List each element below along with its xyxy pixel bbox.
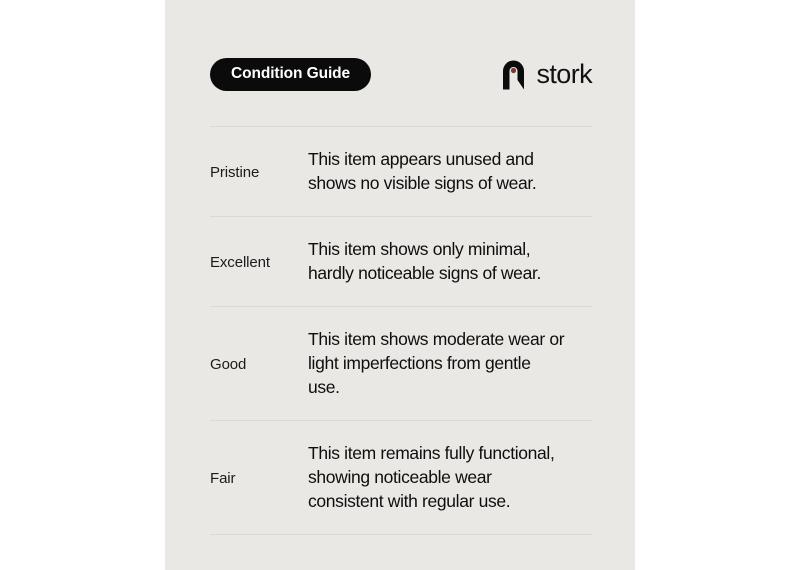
brand-lockup: stork bbox=[500, 59, 592, 90]
page-root: Condition Guide stork Pristine This item… bbox=[0, 0, 800, 570]
condition-guide-table: Pristine This item appears unused and sh… bbox=[210, 126, 592, 535]
condition-guide-badge: Condition Guide bbox=[210, 58, 371, 91]
condition-description: This item shows moderate wear or light i… bbox=[308, 328, 592, 400]
condition-label: Pristine bbox=[210, 162, 308, 181]
table-row: Pristine This item appears unused and sh… bbox=[210, 127, 592, 216]
row-divider bbox=[210, 534, 592, 535]
table-row: Fair This item remains fully functional,… bbox=[210, 421, 592, 534]
condition-label: Good bbox=[210, 354, 308, 373]
condition-description: This item appears unused and shows no vi… bbox=[308, 148, 592, 196]
condition-guide-card: Condition Guide stork Pristine This item… bbox=[165, 0, 635, 570]
table-row: Good This item shows moderate wear or li… bbox=[210, 307, 592, 420]
condition-description: This item remains fully functional, show… bbox=[308, 442, 592, 514]
stork-arch-logo-icon bbox=[500, 59, 527, 90]
card-header: Condition Guide stork bbox=[210, 57, 592, 91]
condition-description: This item shows only minimal, hardly not… bbox=[308, 238, 592, 286]
condition-label: Fair bbox=[210, 468, 308, 487]
brand-wordmark: stork bbox=[536, 61, 592, 88]
table-row: Excellent This item shows only minimal, … bbox=[210, 217, 592, 306]
condition-label: Excellent bbox=[210, 252, 308, 271]
